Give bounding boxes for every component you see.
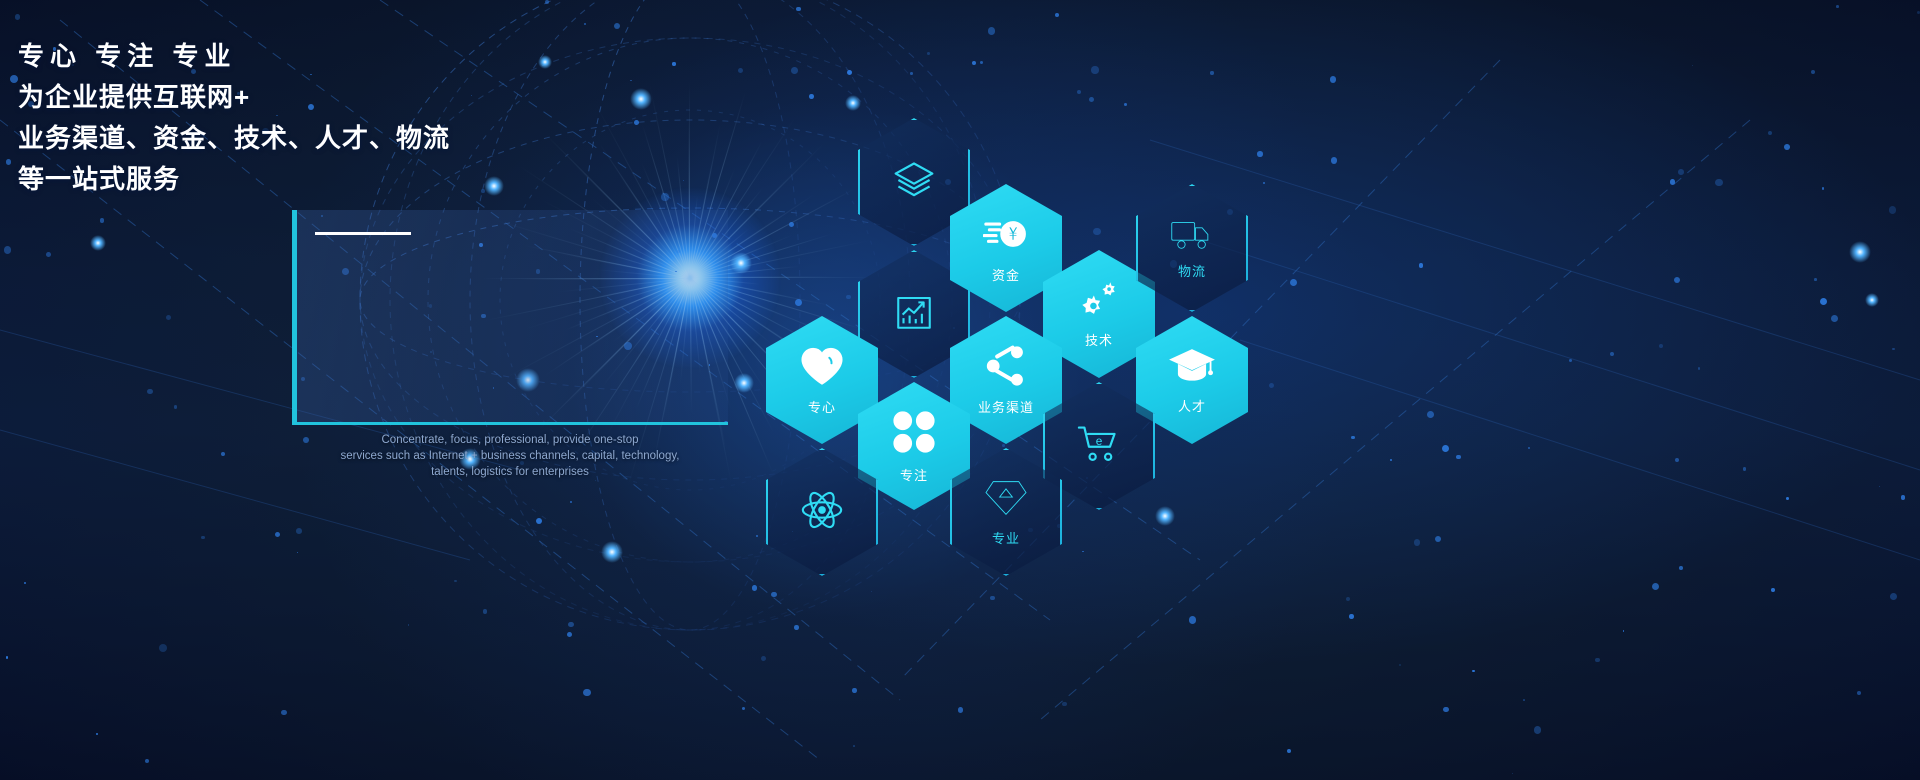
hexagon-content: 技术	[1077, 280, 1121, 349]
hexagon-logistics[interactable]: 物流	[1136, 184, 1248, 312]
atom-icon	[799, 487, 845, 538]
hexagon-label: 物流	[1178, 261, 1206, 280]
hexagon-content: 专心	[799, 345, 845, 416]
hexagon-content	[892, 158, 936, 207]
hexagon-label: 业务渠道	[978, 397, 1034, 416]
clover-icon	[891, 409, 937, 460]
diamond-icon	[984, 478, 1028, 523]
subtitle-line-3: talents, logistics for enterprises	[292, 464, 728, 480]
hexagon-label: 专业	[992, 528, 1020, 547]
layers-icon	[892, 158, 936, 207]
hexagon-content: 资金	[983, 213, 1029, 284]
hexagon-content	[893, 291, 935, 338]
subtitle-text: Concentrate, focus, professional, provid…	[292, 432, 728, 480]
shopping-cart-e-icon: e	[1076, 423, 1122, 470]
hexagon-label: 专心	[808, 397, 836, 416]
headline-line-4: 等一站式服务	[18, 159, 438, 200]
yen-coin-icon	[983, 213, 1029, 260]
hexagon-label: 专注	[900, 465, 928, 484]
hexagon-pro[interactable]: 专业	[950, 448, 1062, 576]
hexagon-content: 专注	[891, 409, 937, 484]
hexagon-content: e	[1076, 423, 1122, 470]
headline-line-3: 业务渠道、资金、技术、人才、物流	[18, 118, 438, 159]
chart-growth-icon	[893, 291, 935, 338]
headline-panel	[292, 210, 728, 425]
headline-line-2: 为企业提供互联网+	[18, 77, 438, 118]
hexagon-content: 业务渠道	[978, 345, 1034, 416]
truck-icon	[1170, 217, 1214, 256]
hexagon-label: 技术	[1085, 330, 1113, 349]
hexagon-label: 人才	[1178, 396, 1206, 415]
hexagon-content: 人才	[1168, 346, 1216, 415]
banner-stage: (function(){ var b=document.getElementBy…	[0, 0, 1920, 780]
hexagon-cluster: 资金技术物流专心业务渠道人才专注e专业	[740, 100, 1300, 540]
hexagon-atom[interactable]	[766, 448, 878, 576]
subtitle-line-2: services such as Internet + business cha…	[292, 448, 728, 464]
share-nodes-icon	[985, 345, 1027, 392]
headline-line-1: 专心 专注 专业	[18, 36, 438, 77]
svg-text:e: e	[1096, 433, 1103, 447]
subtitle-line-1: Concentrate, focus, professional, provid…	[292, 432, 728, 448]
hexagon-content: 物流	[1170, 217, 1214, 280]
hexagon-content: 专业	[984, 478, 1028, 547]
hexagon-label: 资金	[992, 265, 1020, 284]
heart-icon	[799, 345, 845, 392]
hexagon-content	[799, 487, 845, 538]
headline-rule	[315, 232, 411, 235]
headline-text: 专心 专注 专业 为企业提供互联网+ 业务渠道、资金、技术、人才、物流 等一站式…	[18, 36, 438, 200]
gears-icon	[1077, 280, 1121, 325]
graduation-cap-icon	[1168, 346, 1216, 391]
